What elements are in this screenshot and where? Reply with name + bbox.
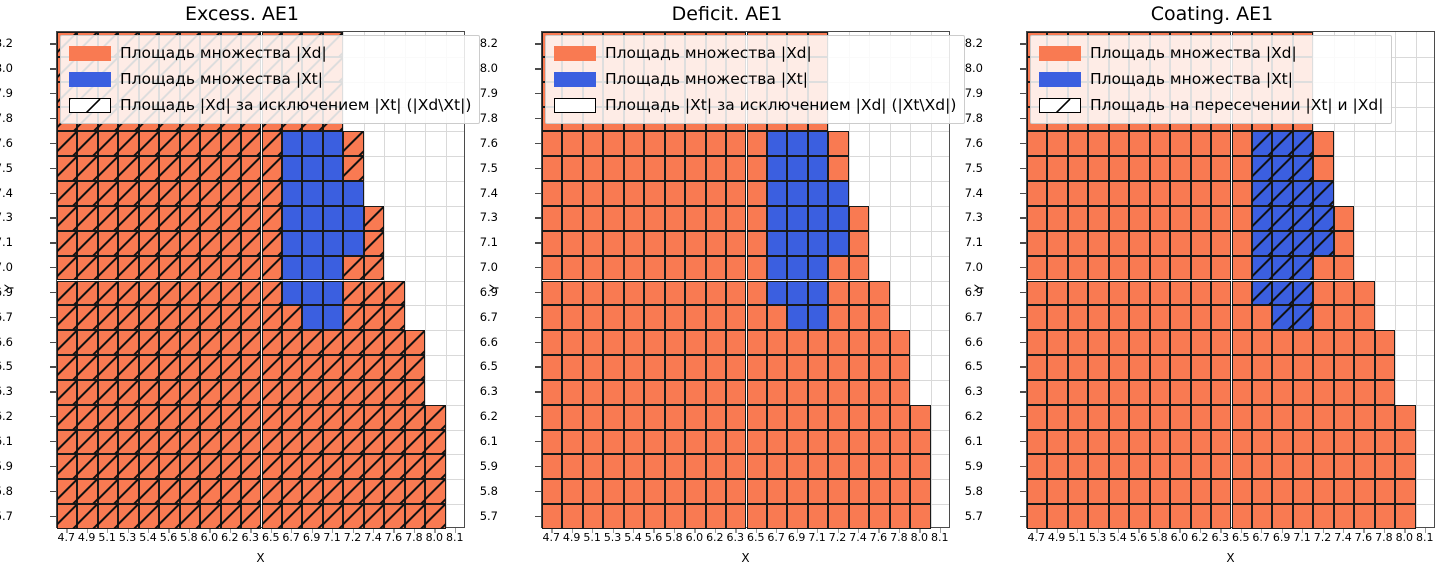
grid-cell [1375, 405, 1395, 430]
grid-cell [57, 454, 77, 479]
legend-item-hatch: Площадь |Xd| за исключением |Xt| (|Xd\Xt… [69, 93, 471, 117]
grid-cell [1272, 131, 1292, 156]
grid-cell [221, 454, 241, 479]
grid-cell [583, 181, 603, 206]
grid-cell [1109, 156, 1129, 181]
panel-excess: Excess. AE1 Y X 8.28.07.97.87.67.57.47.3… [0, 0, 484, 575]
x-tick-mark [1425, 528, 1426, 533]
grid-cell [200, 355, 220, 380]
grid-cell [262, 231, 282, 256]
grid-cell [241, 479, 261, 504]
legend-label-xt: Площадь множества |Xt| [1090, 71, 1293, 87]
grid-cell [1027, 405, 1047, 430]
grid-cell [665, 281, 685, 306]
grid-cell [1088, 281, 1108, 306]
grid-cell [542, 206, 562, 231]
grid-cell [665, 504, 685, 529]
grid-cell [787, 305, 807, 330]
grid-cell [1129, 131, 1149, 156]
grid-cell [364, 281, 384, 306]
grid-cell [828, 281, 848, 306]
grid-cell [180, 281, 200, 306]
grid-cell [1068, 330, 1088, 355]
grid-cell [241, 156, 261, 181]
grid-cell [1170, 454, 1190, 479]
grid-cell [1272, 181, 1292, 206]
grid-cell [603, 256, 623, 281]
grid-cell [1027, 281, 1047, 306]
grid-cell [808, 281, 828, 306]
grid-cell [302, 181, 322, 206]
grid-cell [1170, 479, 1190, 504]
grid-cell [1334, 231, 1354, 256]
grid-cell [1088, 330, 1108, 355]
grid-cell [1334, 206, 1354, 231]
grid-cell [665, 305, 685, 330]
y-tick-label: 5.7 [452, 509, 498, 523]
grid-cell [343, 131, 363, 156]
grid-cell [384, 454, 404, 479]
grid-cell [726, 479, 746, 504]
grid-cell [644, 330, 664, 355]
grid-cell [828, 206, 848, 231]
grid-cell [1191, 256, 1211, 281]
grid-cell [262, 504, 282, 529]
grid-cell [1293, 454, 1313, 479]
grid-cell [282, 504, 302, 529]
grid-cell [77, 181, 97, 206]
grid-cell [828, 305, 848, 330]
grid-cell [583, 479, 603, 504]
grid-cell [1109, 504, 1129, 529]
grid-cell [77, 355, 97, 380]
grid-cell [139, 430, 159, 455]
grid-cell [726, 181, 746, 206]
grid-cell [890, 430, 910, 455]
grid-cell [685, 181, 705, 206]
grid-cell [1027, 504, 1047, 529]
grid-cell [808, 330, 828, 355]
grid-cell [384, 380, 404, 405]
y-tick-label: 7.4 [452, 186, 498, 200]
grid-cell [542, 231, 562, 256]
grid-cell [1211, 405, 1231, 430]
grid-cell [200, 405, 220, 430]
grid-cell [282, 281, 302, 306]
grid-cell [200, 430, 220, 455]
grid-cell [1334, 380, 1354, 405]
grid-cell [98, 380, 118, 405]
grid-cell [323, 256, 343, 281]
grid-cell [159, 156, 179, 181]
grid-cell [282, 430, 302, 455]
grid-cell [343, 231, 363, 256]
grid-cell [57, 281, 77, 306]
grid-cell [1313, 330, 1333, 355]
grid-cell [364, 256, 384, 281]
grid-cell [57, 330, 77, 355]
grid-cell [77, 256, 97, 281]
grid-cell [685, 156, 705, 181]
grid-cell [1109, 305, 1129, 330]
grid-cell [1088, 131, 1108, 156]
grid-cell [767, 156, 787, 181]
grid-cell [98, 131, 118, 156]
grid-cell [57, 355, 77, 380]
grid-cell [77, 231, 97, 256]
grid-cell [1334, 430, 1354, 455]
grid-cell [282, 330, 302, 355]
grid-cell [118, 355, 138, 380]
legend-label-xd: Площадь множества |Xd| [1090, 45, 1297, 61]
grid-cell [1068, 181, 1088, 206]
grid-cell [787, 454, 807, 479]
grid-cell [262, 355, 282, 380]
grid-cell [1150, 330, 1170, 355]
grid-cell [1252, 206, 1272, 231]
grid-cell [747, 131, 767, 156]
grid-cell [787, 504, 807, 529]
grid-cell [1150, 131, 1170, 156]
grid-cell [1191, 231, 1211, 256]
grid-cell [262, 430, 282, 455]
grid-cell [1232, 181, 1252, 206]
y-tick-label: 6.2 [452, 409, 498, 423]
grid-cell [118, 330, 138, 355]
grid-cell [603, 479, 623, 504]
grid-cell [1313, 479, 1333, 504]
grid-cell [726, 281, 746, 306]
grid-cell [200, 131, 220, 156]
legend-item-hatch: Площадь |Xt| за исключением |Xd| (|Xt\Xd… [554, 93, 956, 117]
grid-cell [624, 305, 644, 330]
grid-cell [1150, 405, 1170, 430]
grid-cell [644, 405, 664, 430]
grid-cell [1191, 206, 1211, 231]
grid-cell [1232, 380, 1252, 405]
grid-cell [1047, 330, 1067, 355]
grid-cell [603, 281, 623, 306]
grid-cell [665, 430, 685, 455]
grid-cell [1211, 181, 1231, 206]
grid-cell [1129, 256, 1149, 281]
grid-cell [1027, 355, 1047, 380]
grid-cell [624, 156, 644, 181]
grid-cell [787, 405, 807, 430]
grid-cell [685, 281, 705, 306]
grid-cell [665, 330, 685, 355]
grid-cell [1232, 504, 1252, 529]
grid-cell [1211, 454, 1231, 479]
grid-cell [159, 405, 179, 430]
grid-cell [603, 454, 623, 479]
grid-cell [890, 405, 910, 430]
grid-cell [262, 206, 282, 231]
grid-cell [665, 380, 685, 405]
grid-cell [221, 181, 241, 206]
grid-cell [787, 380, 807, 405]
grid-cell [1375, 330, 1395, 355]
grid-cell [139, 504, 159, 529]
grid-cell [808, 355, 828, 380]
grid-cell [1109, 131, 1129, 156]
grid-cell [562, 330, 582, 355]
grid-cell [1047, 181, 1067, 206]
grid-cell [200, 454, 220, 479]
grid-cell [1129, 430, 1149, 455]
legend-swatch-xd-icon [1039, 46, 1081, 61]
grid-cell [1272, 355, 1292, 380]
grid-cell [282, 454, 302, 479]
grid-cell [1027, 206, 1047, 231]
grid-cell [542, 131, 562, 156]
grid-cell [1232, 355, 1252, 380]
grid-cell [262, 380, 282, 405]
grid-cell [787, 131, 807, 156]
grid-cell [139, 256, 159, 281]
grid-cell [282, 405, 302, 430]
grid-cell [747, 454, 767, 479]
grid-cell [343, 281, 363, 306]
grid-cell [890, 504, 910, 529]
grid-cell [1395, 405, 1415, 430]
grid-cell [665, 405, 685, 430]
grid-cell [542, 256, 562, 281]
grid-cell [118, 479, 138, 504]
grid-cell [890, 454, 910, 479]
grid-cell [1170, 330, 1190, 355]
grid-cell [323, 206, 343, 231]
grid-cell [1088, 156, 1108, 181]
grid-cell [1047, 206, 1067, 231]
legend-label-hatch: Площадь |Xd| за исключением |Xt| (|Xd\Xt… [120, 97, 471, 113]
grid-cell [1293, 281, 1313, 306]
grid-cell [808, 131, 828, 156]
grid-cell [1109, 430, 1129, 455]
grid-cell [726, 131, 746, 156]
grid-cell [726, 156, 746, 181]
grid-cell [1068, 231, 1088, 256]
grid-cell [583, 131, 603, 156]
grid-cell [159, 330, 179, 355]
grid-cell [869, 380, 889, 405]
grid-cell [302, 206, 322, 231]
grid-cell [159, 454, 179, 479]
grid-cell [562, 305, 582, 330]
grid-cell [1068, 504, 1088, 529]
grid-cell [57, 380, 77, 405]
grid-cell [1109, 206, 1129, 231]
grid-cell [180, 131, 200, 156]
grid-cell [1252, 504, 1272, 529]
y-tick-label: 6.1 [452, 434, 498, 448]
grid-cell [1027, 231, 1047, 256]
grid-cell [1088, 479, 1108, 504]
grid-cell [890, 380, 910, 405]
grid-cell [57, 206, 77, 231]
grid-cell [1293, 305, 1313, 330]
grid-cell [1109, 454, 1129, 479]
grid-cell [77, 131, 97, 156]
grid-cell [1354, 305, 1374, 330]
grid-cell [159, 479, 179, 504]
grid-cell [869, 454, 889, 479]
grid-cell [241, 231, 261, 256]
grid-cell [1375, 479, 1395, 504]
grid-cell [282, 380, 302, 405]
y-tick-label: 6.5 [452, 359, 498, 373]
grid-cell [747, 256, 767, 281]
grid-cell [542, 504, 562, 529]
grid-cell [302, 305, 322, 330]
grid-cell [282, 256, 302, 281]
y-tick-label: 8.0 [0, 61, 13, 75]
grid-cell [767, 231, 787, 256]
grid-cell [562, 206, 582, 231]
grid-cell [726, 305, 746, 330]
grid-cell [1170, 156, 1190, 181]
grid-cell [685, 206, 705, 231]
grid-cell [665, 131, 685, 156]
grid-cell [787, 330, 807, 355]
grid-cell [57, 305, 77, 330]
grid-cell [425, 454, 445, 479]
grid-cell [1313, 231, 1333, 256]
grid-cell [180, 479, 200, 504]
y-tick-label: 6.2 [0, 409, 13, 423]
grid-cell [849, 454, 869, 479]
y-tick-label: 6.9 [452, 285, 498, 299]
grid-cell [1272, 330, 1292, 355]
grid-cell [200, 504, 220, 529]
grid-cell [1088, 206, 1108, 231]
grid-cell [562, 281, 582, 306]
grid-cell [98, 405, 118, 430]
grid-cell [118, 256, 138, 281]
grid-cell [583, 504, 603, 529]
grid-cell [665, 231, 685, 256]
y-tick-label: 7.6 [452, 136, 498, 150]
grid-cell [767, 206, 787, 231]
grid-cell [200, 256, 220, 281]
grid-cell [1232, 156, 1252, 181]
grid-cell [747, 380, 767, 405]
grid-cell [323, 504, 343, 529]
grid-cell [890, 330, 910, 355]
grid-cell [241, 181, 261, 206]
grid-cell [1272, 504, 1292, 529]
y-tick-label: 7.6 [937, 136, 983, 150]
x-axis-label: X [56, 551, 465, 565]
grid-cell [603, 380, 623, 405]
grid-cell [405, 405, 425, 430]
legend-swatch-xt-icon [69, 72, 111, 87]
legend-item-xt: Площадь множества |Xt| [69, 67, 471, 91]
grid-cell [384, 355, 404, 380]
grid-cell [562, 430, 582, 455]
grid-cell [542, 380, 562, 405]
grid-cell [262, 454, 282, 479]
grid-cell [583, 454, 603, 479]
grid-cell [767, 454, 787, 479]
grid-cell [1252, 181, 1272, 206]
grid-cell [828, 231, 848, 256]
grid-cell [583, 330, 603, 355]
grid-cell [665, 156, 685, 181]
grid-cell [241, 405, 261, 430]
grid-cell [139, 380, 159, 405]
grid-cell [1334, 504, 1354, 529]
grid-cell [1313, 256, 1333, 281]
grid-cell [1047, 405, 1067, 430]
grid-cell [562, 380, 582, 405]
grid-cell [1191, 479, 1211, 504]
grid-cell [808, 380, 828, 405]
grid-cell [1191, 131, 1211, 156]
grid-cell [1232, 454, 1252, 479]
grid-cell [787, 156, 807, 181]
grid-cell [706, 405, 726, 430]
grid-cell [282, 206, 302, 231]
grid-cell [1047, 231, 1067, 256]
grid-cell [57, 256, 77, 281]
grid-cell [98, 281, 118, 306]
y-tick-label: 6.7 [452, 310, 498, 324]
grid-cell [118, 181, 138, 206]
grid-cell [706, 430, 726, 455]
y-tick-label: 6.2 [937, 409, 983, 423]
grid-cell [1191, 430, 1211, 455]
grid-cell [542, 355, 562, 380]
grid-cell [323, 305, 343, 330]
x-axis-label: X [541, 551, 950, 565]
grid-cell [139, 231, 159, 256]
y-tick-label: 6.5 [0, 359, 13, 373]
grid-cell [1129, 305, 1149, 330]
grid-cell [1375, 355, 1395, 380]
grid-cell [1170, 231, 1190, 256]
grid-cell [706, 281, 726, 306]
grid-cell [849, 504, 869, 529]
grid-cell [1272, 454, 1292, 479]
grid-cell [910, 454, 930, 479]
grid-cell [262, 479, 282, 504]
grid-cell [77, 380, 97, 405]
grid-cell [562, 231, 582, 256]
grid-cell [542, 479, 562, 504]
grid-cell [1068, 430, 1088, 455]
grid-cell [1047, 454, 1067, 479]
grid-cell [118, 454, 138, 479]
grid-cell [1047, 281, 1067, 306]
grid-cell [869, 430, 889, 455]
grid-cell [1354, 405, 1374, 430]
grid-cell [644, 380, 664, 405]
grid-cell [77, 405, 97, 430]
grid-cell [139, 281, 159, 306]
grid-cell [98, 206, 118, 231]
grid-cell [302, 479, 322, 504]
grid-cell [364, 479, 384, 504]
grid-cell [706, 330, 726, 355]
grid-cell [1232, 330, 1252, 355]
grid-cell [1109, 355, 1129, 380]
grid-cell [1129, 156, 1149, 181]
grid-cell [1272, 405, 1292, 430]
grid-cell [910, 405, 930, 430]
grid-cell [562, 479, 582, 504]
grid-cell [665, 181, 685, 206]
